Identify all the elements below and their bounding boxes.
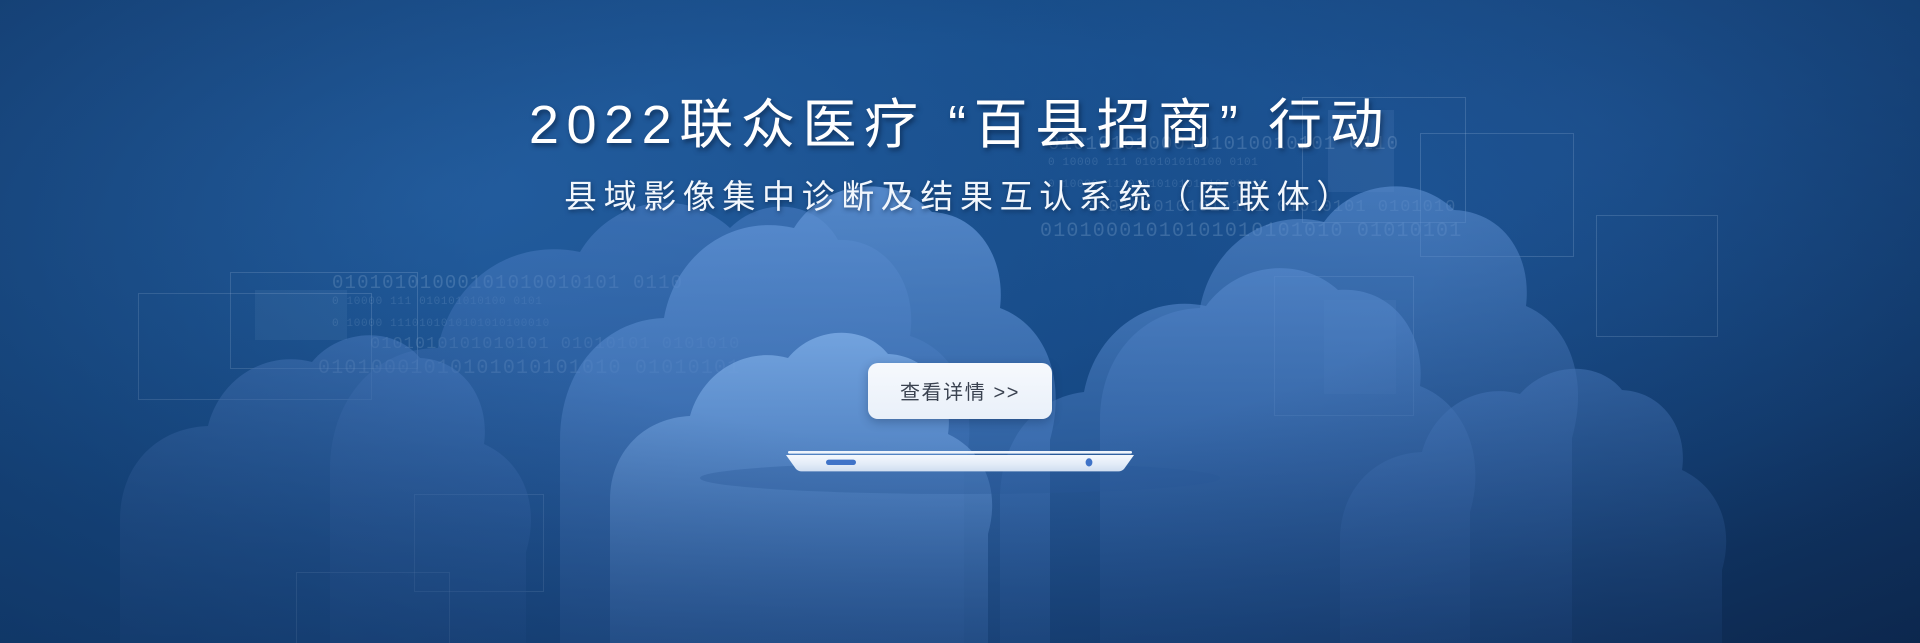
- page-title: 2022联众医疗 “百县招商” 行动: [0, 0, 1920, 155]
- decor-rect-7: [1420, 133, 1574, 257]
- background-glow-left: [0, 0, 1248, 579]
- binary-text-9: 0101010101010101 01010101 0101010: [1086, 198, 1456, 217]
- binary-text-1: 01010101000101010010101 0110: [332, 272, 683, 294]
- decor-rect-10: [1596, 215, 1718, 337]
- decor-rect-2: [230, 272, 418, 369]
- decor-rect-5: [1302, 97, 1466, 223]
- binary-text-8: 0 10000 1110101010101010100010: [1048, 179, 1266, 191]
- page-subtitle: 县域影像集中诊断及结果互认系统（医联体）: [0, 155, 1920, 217]
- decor-rect-4: [414, 494, 544, 592]
- banner-text-block: 2022联众医疗 “百县招商” 行动 县域影像集中诊断及结果互认系统（医联体）: [0, 0, 1920, 217]
- binary-text-2: 0 10000 111 010101010100 0101: [332, 296, 543, 308]
- decor-rect-6: [1328, 110, 1394, 192]
- binary-text-4: 0101010101010101 01010101 0101010: [370, 335, 740, 354]
- background-glow-right: [960, 0, 1920, 579]
- background-vignette: [0, 0, 1920, 643]
- binary-text-7: 0 10000 111 010101010100 0101: [1048, 157, 1259, 169]
- cta-container: 查看详情 >>: [0, 363, 1920, 419]
- decor-rect-11: [296, 572, 450, 643]
- binary-text-3: 0 10000 1110101010101010100010: [332, 318, 550, 330]
- laptop-base-illustration: [784, 451, 1136, 473]
- promo-banner: 01010101000101010010101 0110 0 10000 111…: [0, 0, 1920, 643]
- binary-text-6: 01010101000101010010101 0110: [1048, 133, 1399, 155]
- view-details-button[interactable]: 查看详情 >>: [868, 363, 1052, 419]
- decor-rect-3: [255, 290, 347, 340]
- cloud-illustration: [0, 0, 1920, 643]
- binary-text-10: 01010001010101010101010 01010101: [1040, 220, 1462, 243]
